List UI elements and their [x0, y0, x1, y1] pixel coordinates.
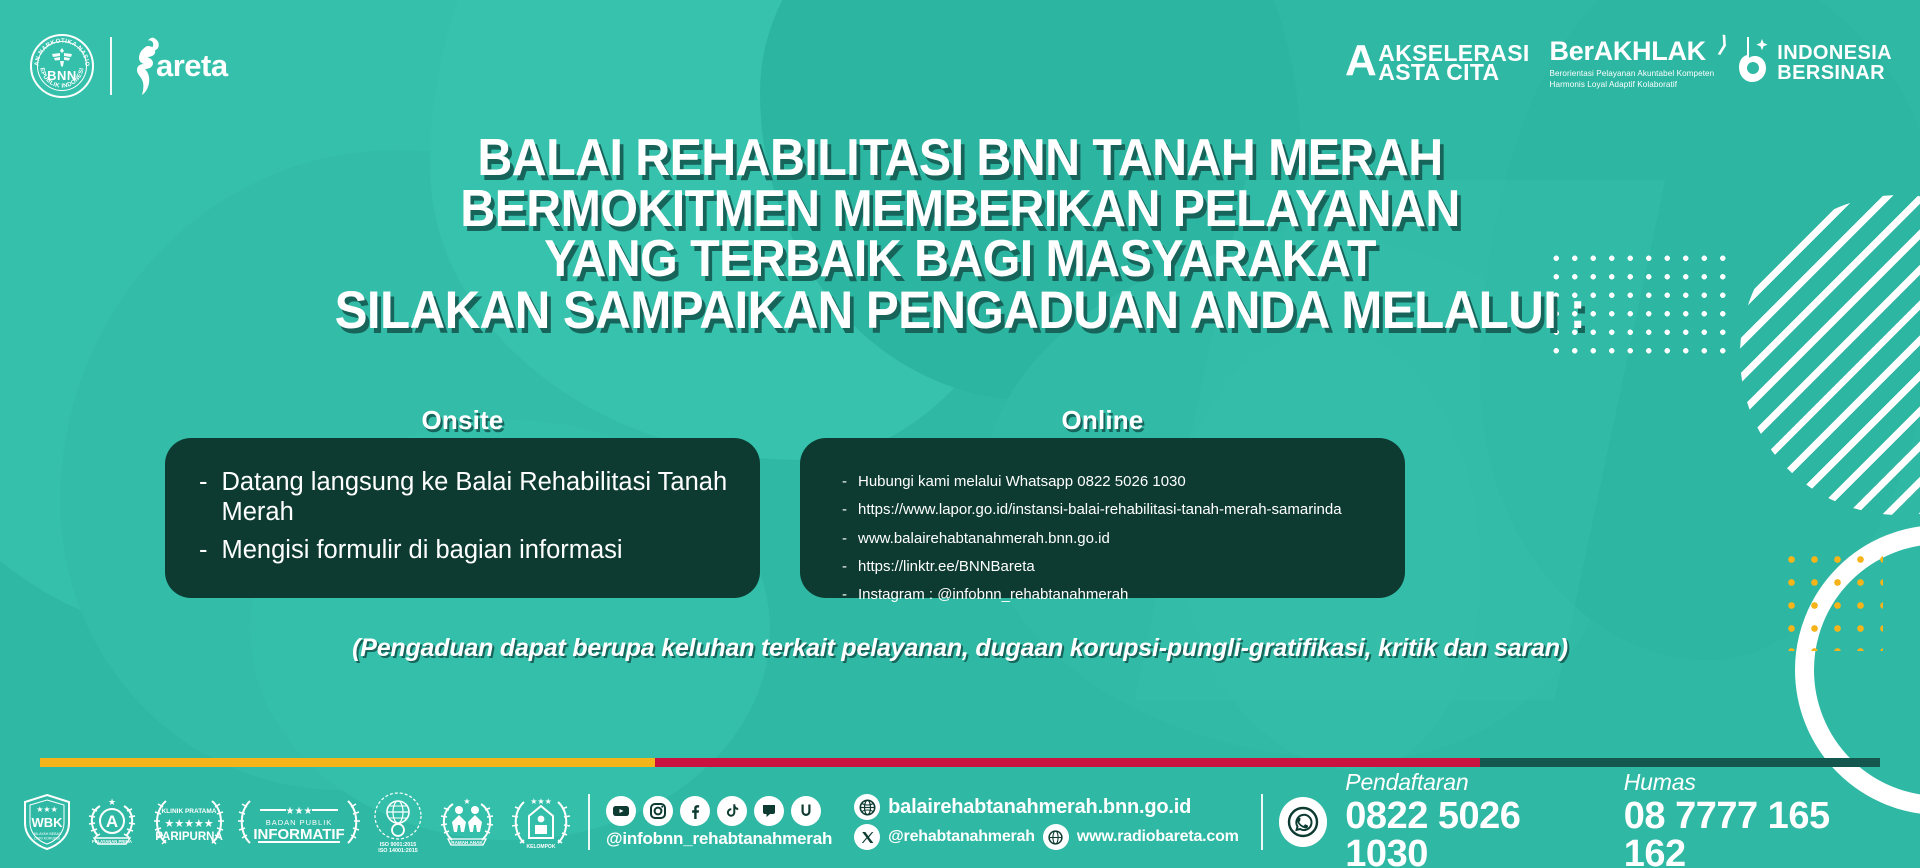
- contact-number: 08 7777 165 162: [1624, 797, 1894, 868]
- list-item[interactable]: - Instagram : @infobnn_rehabtanahmerah: [842, 585, 1383, 605]
- laurel-paripurna-icon: KLINIK PRATAMA ★★★★★ PARIPURNA: [152, 793, 226, 851]
- bnn-seal-label: BNN: [32, 68, 92, 83]
- bersinar-mark-icon: [1734, 37, 1768, 89]
- radio-globe-icon[interactable]: [1043, 824, 1069, 850]
- globe-icon: [854, 794, 880, 820]
- list-item: - Datang langsung ke Balai Rehabilitasi …: [199, 468, 734, 528]
- header: BADAN NARKOTIKA NASIONAL REPUBLIK INDONE…: [0, 0, 1920, 120]
- svg-text:A: A: [106, 812, 118, 831]
- onsite-panel: Onsite - Datang langsung ke Balai Rehabi…: [165, 438, 760, 598]
- bullet-dash: -: [842, 585, 847, 605]
- bareta-wordmark: areta: [156, 48, 228, 84]
- berakhlak-logo: BerAKHLAK ⟩ Berorientasi Pelayanan Akunt…: [1550, 36, 1715, 90]
- bullet-dash: -: [842, 472, 847, 492]
- certification-badges: ★★★ WBK WILAYAH BEBAS DARI KORUPSI ★ A P…: [0, 791, 572, 853]
- instagram-icon[interactable]: [643, 796, 673, 826]
- contact-humas: Humas 08 7777 165 162: [1624, 771, 1894, 868]
- indonesia-bersinar-logo: INDONESIA BERSINAR: [1734, 37, 1892, 89]
- svg-text:★★★: ★★★: [36, 805, 58, 814]
- list-item[interactable]: - https://www.lapor.go.id/instansi-balai…: [842, 500, 1383, 520]
- svg-text:PELAYANAN PRIMA: PELAYANAN PRIMA: [92, 839, 132, 844]
- bullet-dash: -: [842, 500, 847, 520]
- website-text[interactable]: balairehabtanahmerah.bnn.go.id: [888, 796, 1191, 819]
- logo-divider: [110, 37, 112, 95]
- online-item-linktree-link[interactable]: https://linktr.ee/BNNBareta: [858, 557, 1035, 577]
- asta-cita-logo: A AKSELERASI ASTA CITA: [1345, 44, 1530, 83]
- ramah-anak-icon: ★ RAMAH ANAK: [436, 792, 498, 852]
- contact-label: Humas: [1624, 771, 1894, 794]
- online-item-whatsapp: Hubungi kami melalui Whatsapp 0822 5026 …: [858, 472, 1186, 492]
- bareta-icon[interactable]: [791, 796, 821, 826]
- svg-text:★★★: ★★★: [286, 806, 313, 817]
- berakhlak-swoosh-icon: ⟩: [1716, 31, 1730, 58]
- contact-group: Pendaftaran 0822 5026 1030 Humas 08 7777…: [1279, 771, 1920, 868]
- footer-divider-2: [1261, 794, 1263, 850]
- onsite-list: - Datang langsung ke Balai Rehabilitasi …: [165, 438, 760, 565]
- bullet-dash: -: [842, 529, 847, 549]
- wbk-badge: ★★★ WBK WILAYAH BEBAS DARI KORUPSI: [22, 793, 72, 851]
- headline: BALAI REHABILITASI BNN TANAH MERAH BERMO…: [0, 133, 1920, 337]
- tiktok-icon[interactable]: [717, 796, 747, 826]
- online-item-instagram[interactable]: Instagram : @infobnn_rehabtanahmerah: [858, 585, 1128, 605]
- list-item: - Mengisi formulir di bagian informasi: [199, 536, 734, 566]
- pelayanan-prima-badge: ★ A PELAYANAN PRIMA: [84, 792, 140, 852]
- bullet-dash: -: [199, 468, 208, 528]
- svg-text:★: ★: [463, 797, 470, 806]
- bersinar-line1: INDONESIA: [1777, 43, 1892, 63]
- radio-text[interactable]: www.radiobareta.com: [1077, 828, 1239, 846]
- headline-line-1: BALAI REHABILITASI BNN TANAH MERAH: [67, 133, 1853, 184]
- footer: ★★★ WBK WILAYAH BEBAS DARI KORUPSI ★ A P…: [0, 776, 1920, 868]
- svg-text:WILAYAH BEBAS: WILAYAH BEBAS: [33, 832, 62, 836]
- headline-line-3: YANG TERBAIK BAGI MASYARAKAT: [67, 234, 1853, 285]
- laurel-informatif-icon: ★★★ BADAN PUBLIK INFORMATIF: [238, 793, 360, 851]
- berakhlak-sub-line1: Berorientasi Pelayanan Akuntabel Kompete…: [1550, 69, 1715, 80]
- svg-text:WBK: WBK: [31, 815, 63, 830]
- onsite-item-text: Datang langsung ke Balai Rehabilitasi Ta…: [222, 468, 735, 528]
- disclaimer-note: (Pengaduan dapat berupa keluhan terkait …: [0, 634, 1920, 663]
- svg-text:PARIPURNA: PARIPURNA: [155, 831, 223, 843]
- online-list: - Hubungi kami melalui Whatsapp 0822 502…: [800, 438, 1405, 605]
- logo-group-right: A AKSELERASI ASTA CITA BerAKHLAK ⟩ Beror…: [1345, 36, 1892, 90]
- list-item: - Hubungi kami melalui Whatsapp 0822 502…: [842, 472, 1383, 492]
- headline-line-4: SILAKAN SAMPAIKAN PENGADUAN ANDA MELALUI…: [67, 285, 1853, 337]
- shield-icon: ★★★ WBK WILAYAH BEBAS DARI KORUPSI: [22, 793, 72, 851]
- kelompok-badge: ★★★ KELOMPOK: [510, 792, 572, 852]
- website-row[interactable]: balairehabtanahmerah.bnn.go.id: [854, 794, 1239, 820]
- svg-text:ISO 14001:2015: ISO 14001:2015: [378, 848, 418, 853]
- iso-globe-icon: ISO 9001:2015 ISO 14001:2015: [372, 791, 424, 853]
- stripe-dark-segment: [1480, 758, 1880, 767]
- contact-pendaftaran: Pendaftaran 0822 5026 1030: [1345, 771, 1605, 868]
- bnn-seal-logo: BADAN NARKOTIKA NASIONAL REPUBLIK INDONE…: [30, 34, 94, 98]
- bersinar-line2: BERSINAR: [1777, 63, 1892, 83]
- svg-text:KELOMPOK: KELOMPOK: [527, 844, 556, 850]
- svg-text:RAMAH ANAK: RAMAH ANAK: [451, 840, 483, 845]
- svg-text:★★★: ★★★: [530, 797, 552, 806]
- onsite-panel-title: Onsite: [165, 405, 760, 436]
- headline-line-2: BERMOKITMEN MEMBERIKAN PELAYANAN: [67, 184, 1853, 235]
- list-item[interactable]: - www.balairehabtanahmerah.bnn.go.id: [842, 529, 1383, 549]
- klinik-pratama-paripurna-badge: KLINIK PRATAMA ★★★★★ PARIPURNA: [152, 793, 226, 851]
- laurel-a-icon: ★ A PELAYANAN PRIMA: [84, 792, 140, 852]
- berakhlak-sub-line2: Harmonis Loyal Adaptif Kolaboratif: [1550, 80, 1715, 91]
- online-item-website-link[interactable]: www.balairehabtanahmerah.bnn.go.id: [858, 529, 1110, 549]
- logo-group-left: BADAN NARKOTIKA NASIONAL REPUBLIK INDONE…: [30, 34, 228, 98]
- contact-number: 0822 5026 1030: [1345, 797, 1605, 868]
- list-item[interactable]: - https://linktr.ee/BNNBareta: [842, 557, 1383, 577]
- social-handle-text: @infobnn_rehabtanahmerah: [606, 829, 832, 849]
- social-icon-row: [606, 796, 832, 826]
- bullet-dash: -: [842, 557, 847, 577]
- garuda-icon: [50, 47, 74, 67]
- facebook-icon[interactable]: [680, 796, 710, 826]
- svg-text:INFORMATIF: INFORMATIF: [253, 826, 344, 843]
- svg-text:DARI KORUPSI: DARI KORUPSI: [34, 837, 60, 841]
- berakhlak-title: BerAKHLAK: [1550, 36, 1706, 66]
- onsite-item-text: Mengisi formulir di bagian informasi: [222, 536, 623, 566]
- online-panel: Online - Hubungi kami melalui Whatsapp 0…: [800, 438, 1405, 598]
- kelompok-rentan-icon: ★★★ KELOMPOK: [510, 792, 572, 852]
- asta-cita-big-letter: A: [1345, 44, 1377, 78]
- bullet-dash: -: [199, 536, 208, 566]
- iso-badge: ISO 9001:2015 ISO 14001:2015: [372, 791, 424, 853]
- whatsapp-icon[interactable]: [1279, 797, 1328, 847]
- stripe-red-segment: [655, 758, 1480, 767]
- threads-icon[interactable]: [754, 796, 784, 826]
- x-handle-text[interactable]: @rehabtanahmerah: [888, 828, 1035, 846]
- svg-text:★★★★★: ★★★★★: [164, 818, 213, 830]
- youtube-icon[interactable]: [606, 796, 636, 826]
- footer-divider-1: [588, 794, 590, 850]
- asta-cita-line2: ASTA CITA: [1378, 63, 1529, 82]
- social-media-group: @infobnn_rehabtanahmerah: [606, 796, 832, 849]
- color-stripe-divider: [40, 758, 1880, 767]
- badan-publik-informatif-badge: ★★★ BADAN PUBLIK INFORMATIF: [238, 793, 360, 851]
- svg-text:★: ★: [108, 797, 116, 807]
- online-item-lapor-link[interactable]: https://www.lapor.go.id/instansi-balai-r…: [858, 500, 1342, 520]
- online-panel-title: Online: [800, 405, 1405, 436]
- bareta-logo: areta: [128, 36, 228, 96]
- stripe-yellow-segment: [40, 758, 655, 767]
- contact-label: Pendaftaran: [1345, 771, 1605, 794]
- ramah-anak-badge: ★ RAMAH ANAK: [436, 792, 498, 852]
- web-links-group: balairehabtanahmerah.bnn.go.id @rehabtan…: [854, 794, 1239, 850]
- svg-text:KLINIK PRATAMA: KLINIK PRATAMA: [161, 808, 216, 815]
- secondary-links-row: @rehabtanahmerah www.radiobareta.com: [854, 824, 1239, 850]
- x-twitter-icon[interactable]: [854, 824, 880, 850]
